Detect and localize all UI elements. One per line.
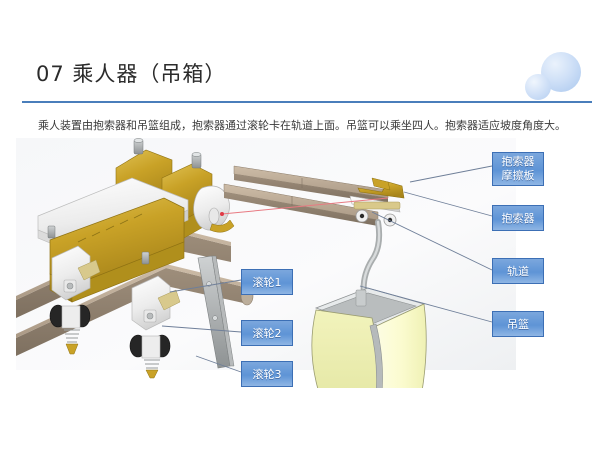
callout-grip-friction-plate[interactable]: 抱索器 摩擦板: [492, 152, 544, 186]
callout-grip-label: 抱索器: [502, 212, 535, 225]
callout-cabin-label: 吊篮: [507, 318, 529, 331]
slide-root: 07 乘人器（吊箱） 乘人装置由抱索器和吊篮组成，抱索器通过滚轮卡在轨道上面。吊…: [0, 0, 600, 450]
callout-roller-3[interactable]: 滚轮3: [241, 361, 293, 387]
callout-roller-1[interactable]: 滚轮1: [241, 269, 293, 295]
callout-grip[interactable]: 抱索器: [492, 205, 544, 231]
blue-circle-small-icon: [525, 74, 551, 100]
callout-rail[interactable]: 轨道: [492, 258, 544, 284]
title-divider: [22, 101, 592, 103]
callout-grip-friction-plate-line1: 抱索器: [502, 155, 535, 169]
subtitle-text: 乘人装置由抱索器和吊篮组成，抱索器通过滚轮卡在轨道上面。吊篮可以乘坐四人。抱索器…: [38, 117, 578, 133]
callout-roller-2[interactable]: 滚轮2: [241, 320, 293, 346]
cable-car-illustration: [16, 138, 516, 388]
callout-grip-friction-plate-line2: 摩擦板: [502, 169, 535, 183]
callout-roller-1-label: 滚轮1: [253, 276, 282, 289]
callout-roller-2-label: 滚轮2: [253, 327, 282, 340]
callout-roller-3-label: 滚轮3: [253, 368, 282, 381]
page-title: 07 乘人器（吊箱）: [36, 58, 226, 88]
callout-rail-label: 轨道: [507, 265, 529, 278]
callout-cabin[interactable]: 吊篮: [492, 311, 544, 337]
gondola-cabin: [312, 288, 426, 388]
